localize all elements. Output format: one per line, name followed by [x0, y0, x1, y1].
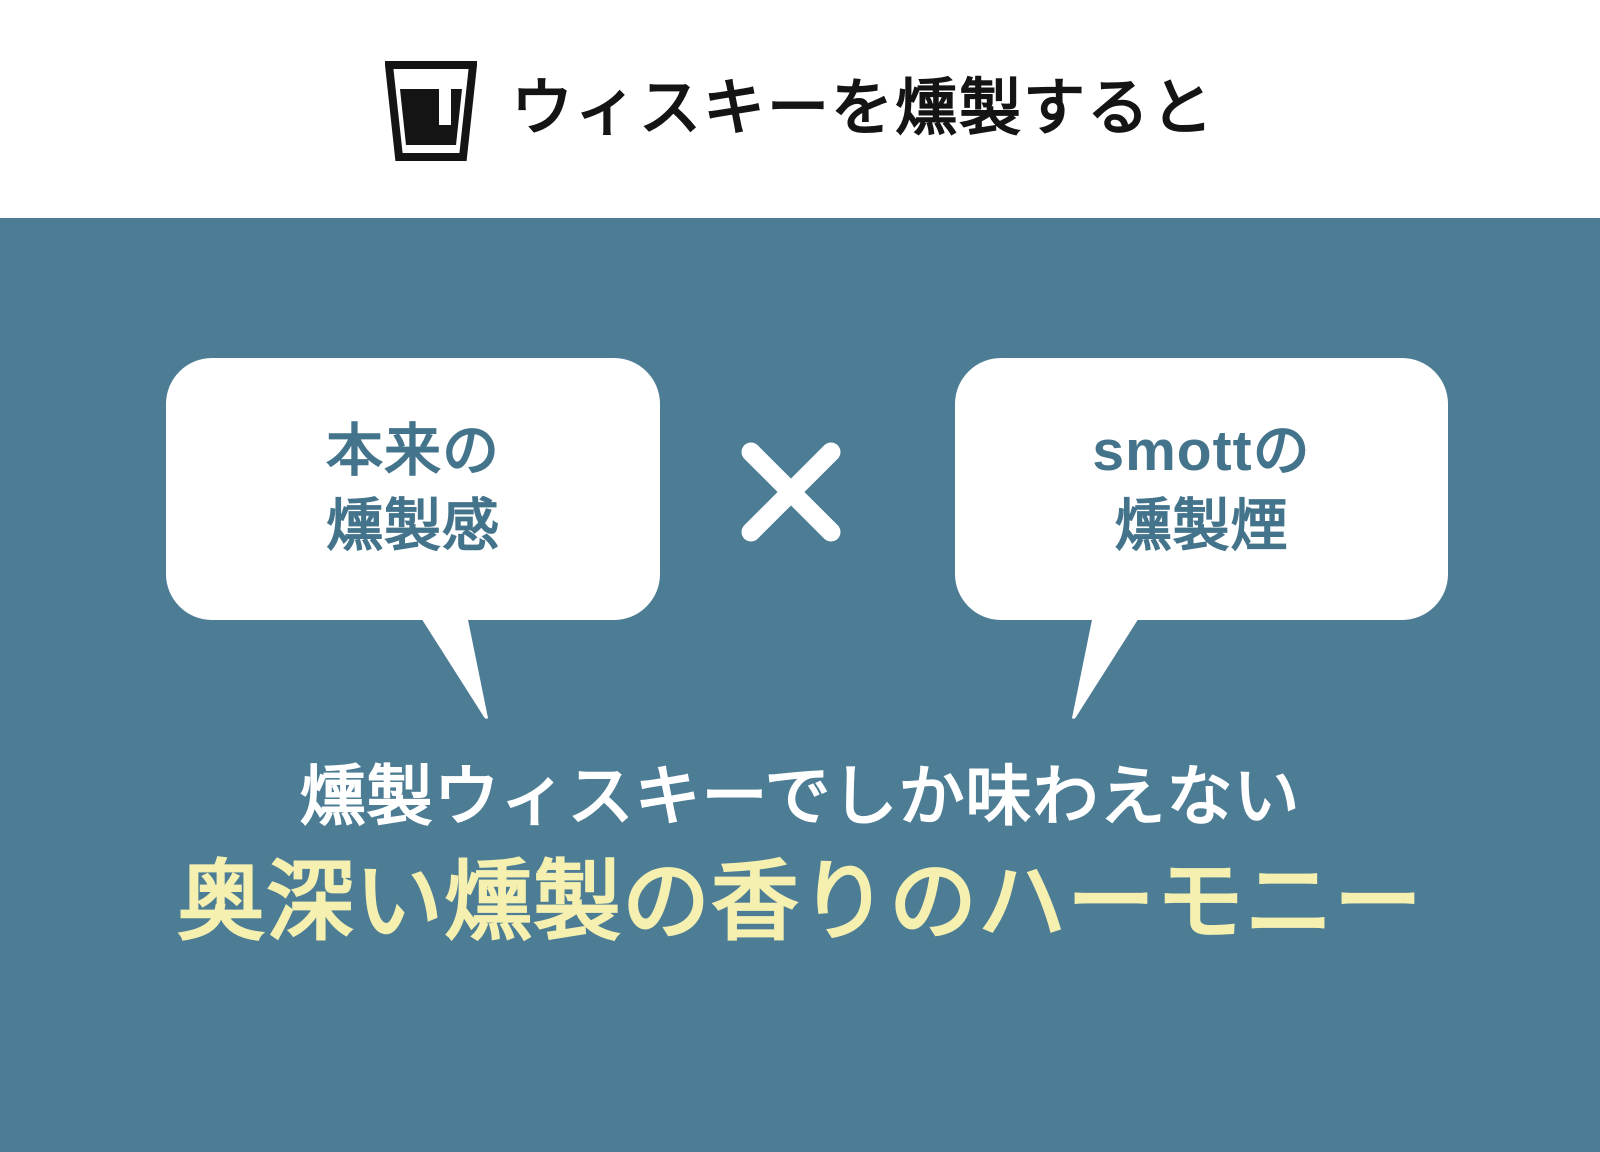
bubble-smott-smoke: smottの 燻製煙: [955, 358, 1448, 620]
bubble-right-line-2: 燻製煙: [1115, 489, 1289, 564]
header-band: ウィスキーを燻製すると: [0, 0, 1600, 218]
bubble-right-tail: [1040, 610, 1160, 720]
page-title: ウィスキーを燻製すると: [511, 78, 1215, 140]
bubble-left-line-2: 燻製感: [326, 489, 500, 564]
bubble-original-smoke: 本来の 燻製感: [166, 358, 660, 620]
bottom-copy-block: 燻製ウィスキーでしか味わえない 奥深い燻製の香りのハーモニー: [0, 758, 1600, 954]
multiply-icon: [737, 438, 845, 546]
bubble-left-line-1: 本来の: [326, 414, 500, 489]
tagline-line-2: 奥深い燻製の香りのハーモニー: [0, 850, 1600, 954]
bubble-right-line-1: smottの: [1092, 414, 1310, 489]
tagline-line-1: 燻製ウィスキーでしか味わえない: [0, 758, 1600, 836]
content-stage: 本来の 燻製感 smottの 燻製煙 燻製ウィスキーでしか味わえない 奥深い燻製…: [0, 218, 1600, 1152]
whisky-glass-icon: [385, 61, 477, 161]
bubble-left-tail: [400, 610, 520, 720]
poster-canvas: ウィスキーを燻製すると 本来の 燻製感 smottの 燻製煙 燻製ウィスキーでし…: [0, 0, 1600, 1152]
